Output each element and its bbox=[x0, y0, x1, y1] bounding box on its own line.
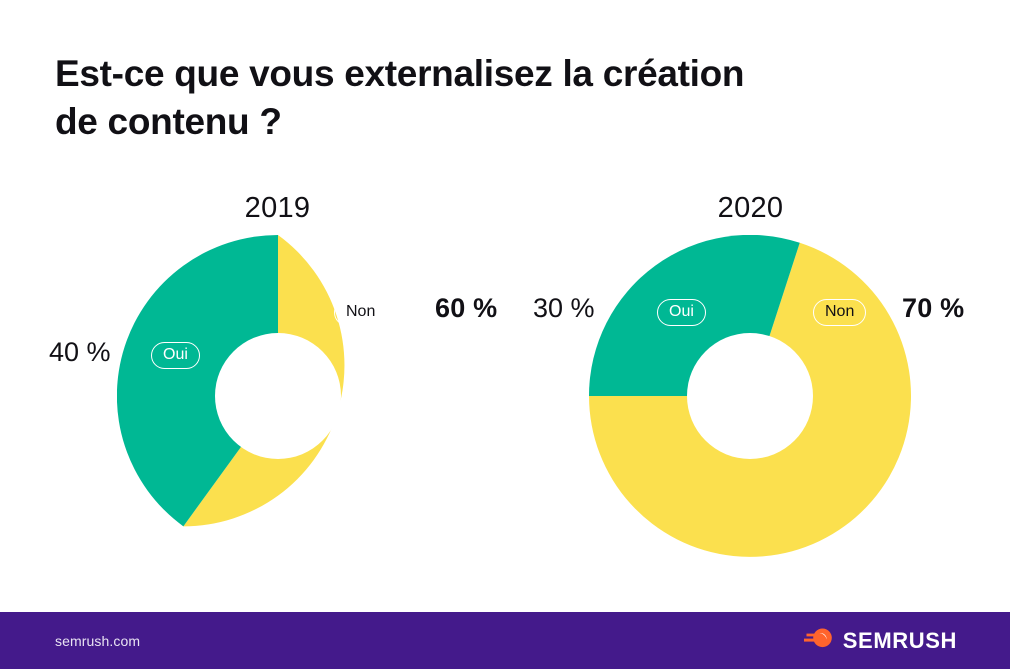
donut-hole bbox=[687, 333, 813, 459]
slice-label-oui: Oui bbox=[657, 299, 706, 326]
chart-year-label: 2019 bbox=[25, 192, 530, 225]
semrush-comet-icon-svg bbox=[804, 626, 834, 650]
semrush-comet-icon bbox=[804, 626, 834, 655]
donut-graphic-2019 bbox=[117, 235, 439, 557]
donut-graphic-2020 bbox=[589, 235, 911, 557]
percent-callout-oui: 40 % bbox=[49, 337, 111, 368]
donut-svg bbox=[589, 235, 911, 557]
footer-site-link[interactable]: semrush.com bbox=[55, 633, 140, 649]
donut-chart-2020: 2020 Oui Non 30 % 70 % bbox=[472, 0, 977, 612]
slice-label-non: Non bbox=[813, 299, 866, 326]
charts-container: 2019 Oui Non 40 % 60 % 2020 bbox=[0, 0, 1010, 612]
donut-hole bbox=[215, 333, 341, 459]
percent-callout-oui: 30 % bbox=[533, 293, 595, 324]
donut-chart-2019: 2019 Oui Non 40 % 60 % bbox=[0, 0, 505, 612]
slice-label-oui: Oui bbox=[151, 342, 200, 369]
chart-year-label: 2020 bbox=[498, 192, 1003, 225]
slice-label-non: Non bbox=[334, 299, 387, 326]
brand-name: SEMRUSH bbox=[843, 628, 957, 654]
percent-callout-non: 70 % bbox=[902, 293, 964, 324]
brand-logo: SEMRUSH bbox=[804, 626, 957, 655]
donut-svg bbox=[117, 235, 439, 557]
footer-bar: semrush.com SEMRUSH bbox=[0, 612, 1010, 669]
